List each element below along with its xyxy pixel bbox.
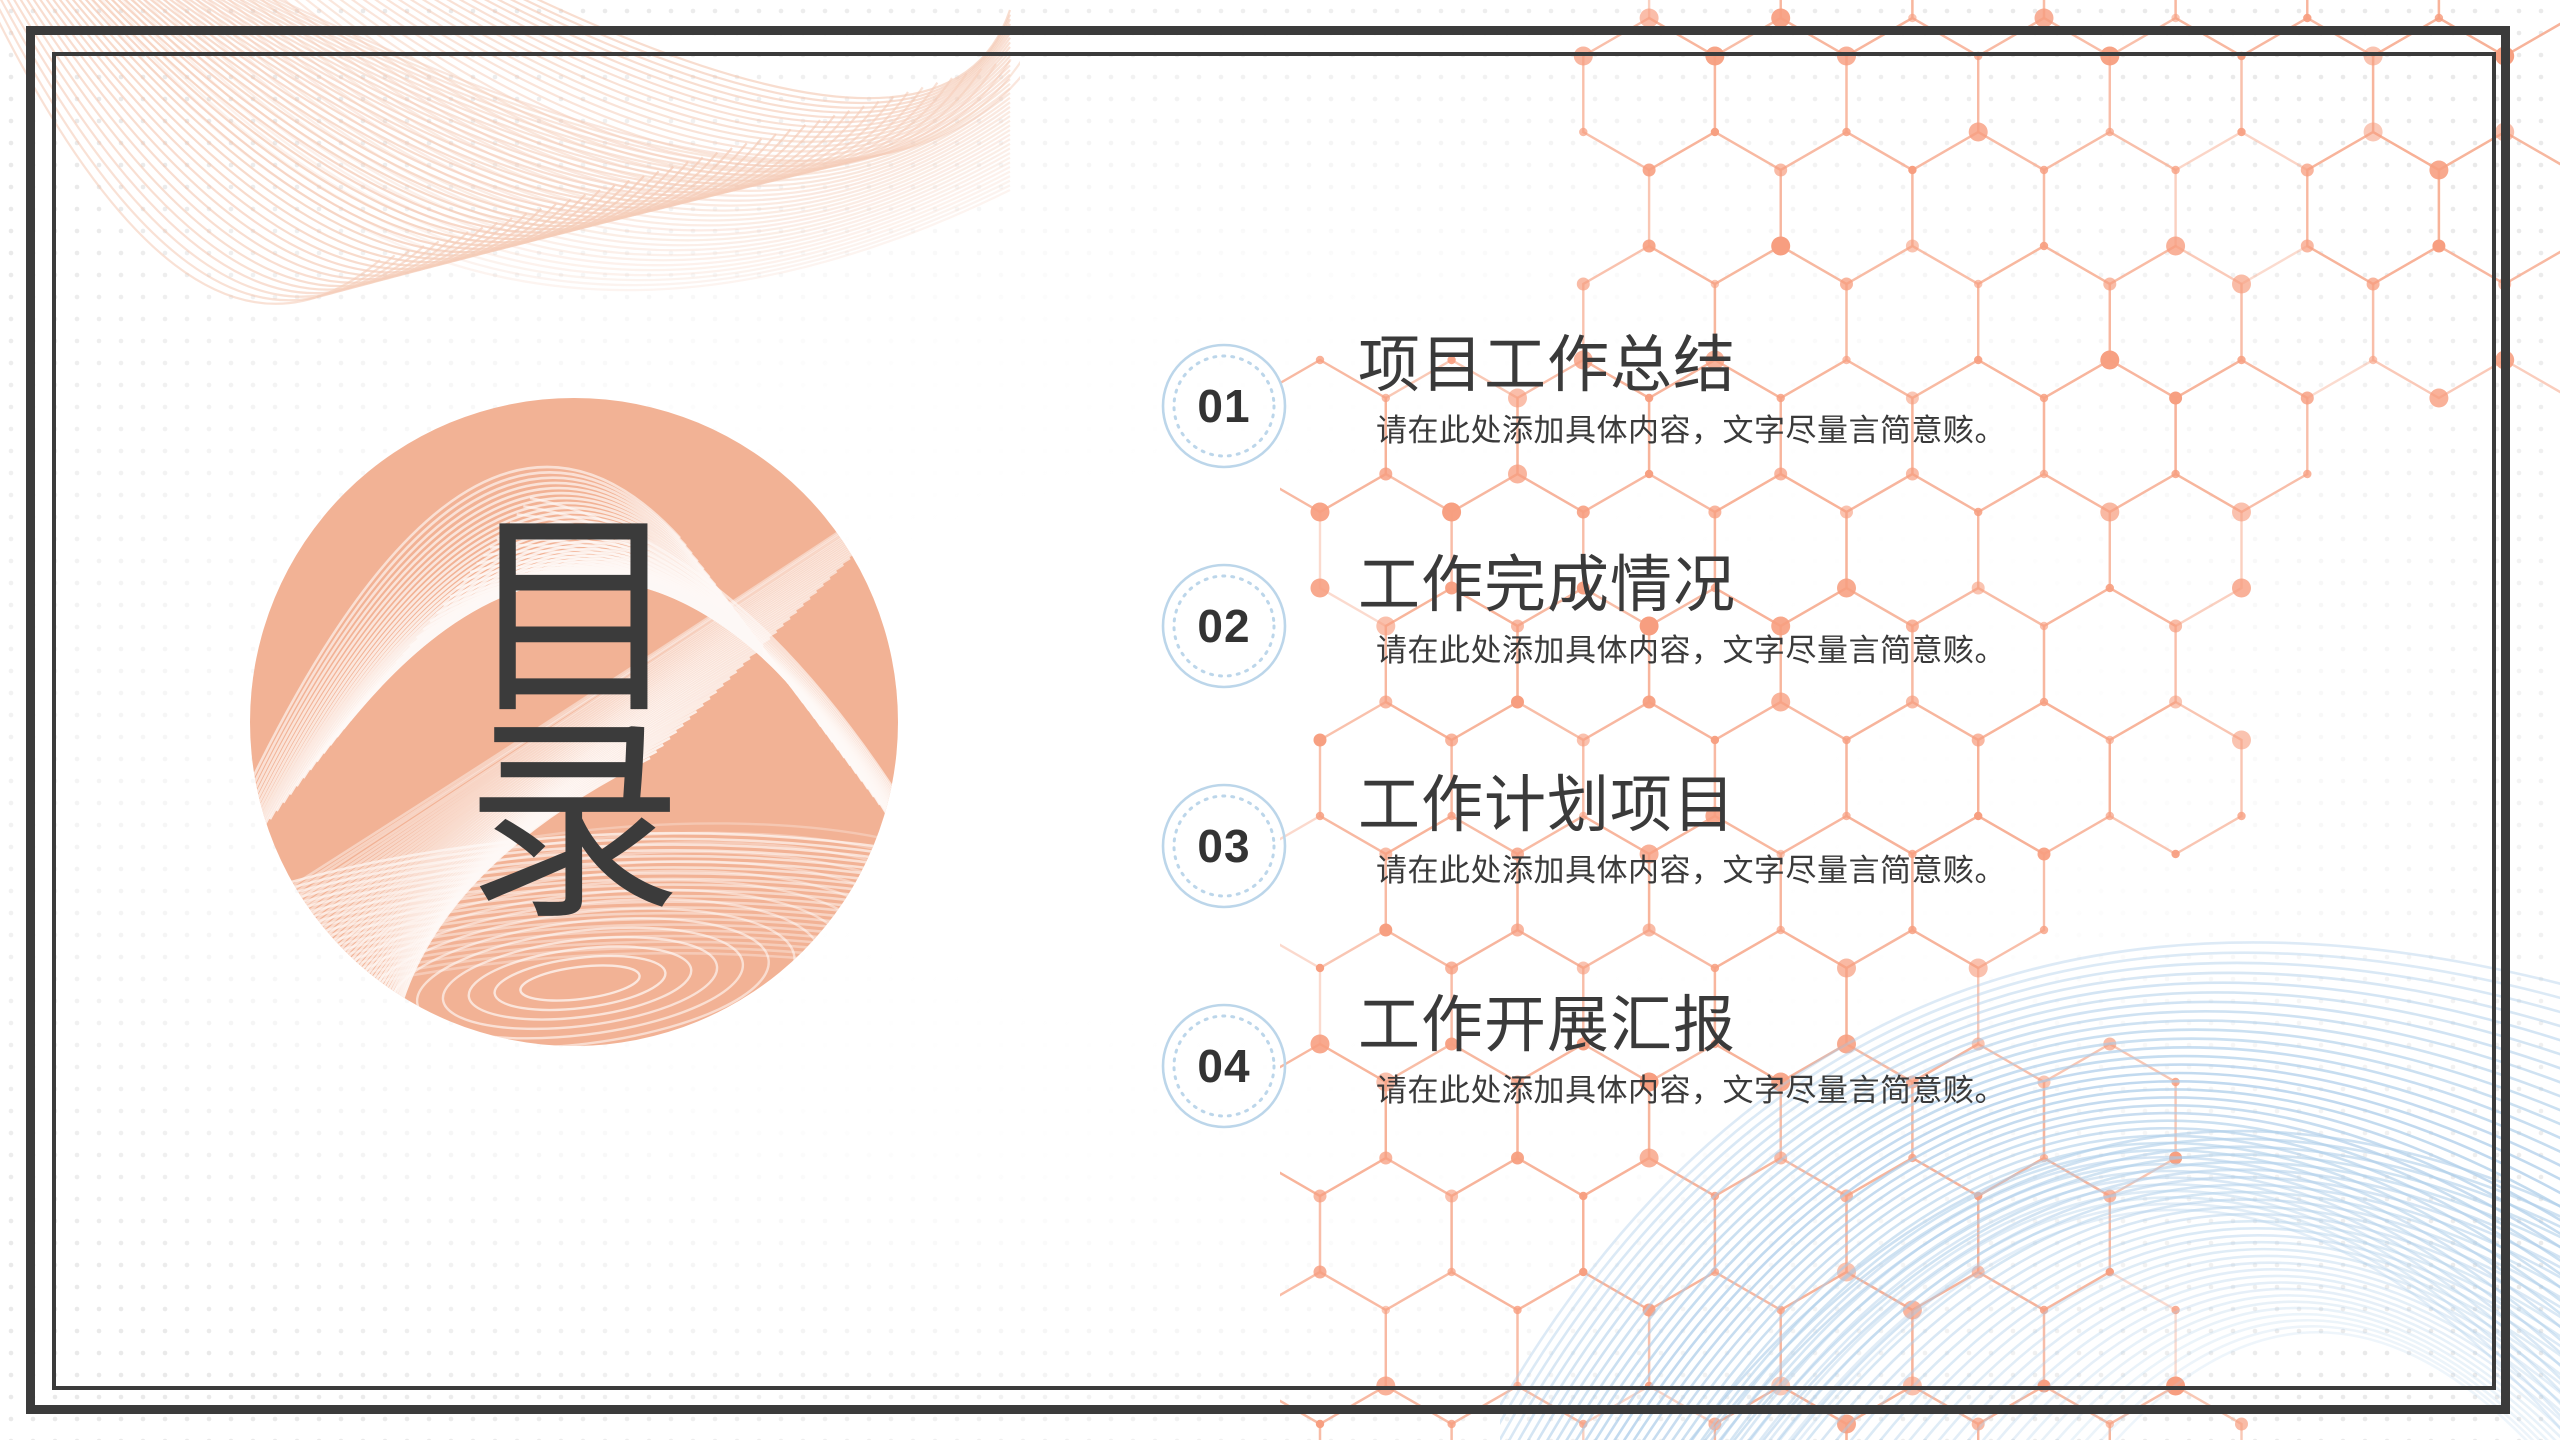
toc-badge-03: 03: [1160, 782, 1288, 910]
toc-subtitle-03: 请在此处添加具体内容，文字尽量言简意赅。: [1376, 845, 2006, 890]
toc-subtitle-02: 请在此处添加具体内容，文字尽量言简意赅。: [1376, 625, 2006, 670]
toc-heading-char-1: 目: [465, 517, 683, 722]
toc-subtitle-01: 请在此处添加具体内容，文字尽量言简意赅。: [1376, 405, 2006, 450]
toc-badge-04: 04: [1160, 1002, 1288, 1130]
toc-number-03: 03: [1160, 782, 1288, 910]
toc-item-02[interactable]: 02 工作完成情况 请在此处添加具体内容，文字尽量言简意赅。: [1160, 550, 2360, 770]
toc-title-04: 工作开展汇报: [1358, 990, 2006, 1059]
toc-title-03: 工作计划项目: [1358, 770, 2006, 839]
top-left-mesh-decoration: [0, 0, 1020, 390]
toc-title-01: 项目工作总结: [1358, 330, 2006, 399]
toc-item-01[interactable]: 01 项目工作总结 请在此处添加具体内容，文字尽量言简意赅。: [1160, 330, 2360, 550]
toc-number-01: 01: [1160, 342, 1288, 470]
slide-canvas: 目 录 01 项目工作总结 请在此处添加具体内容，文字尽量言简意赅。: [0, 0, 2560, 1440]
toc-item-03[interactable]: 03 工作计划项目 请在此处添加具体内容，文字尽量言简意赅。: [1160, 770, 2360, 990]
toc-heading-text: 目 录: [250, 398, 898, 1046]
toc-item-04[interactable]: 04 工作开展汇报 请在此处添加具体内容，文字尽量言简意赅。: [1160, 990, 2360, 1210]
toc-badge-01: 01: [1160, 342, 1288, 470]
toc-text-03: 工作计划项目 请在此处添加具体内容，文字尽量言简意赅。: [1358, 770, 2006, 890]
toc-number-04: 04: [1160, 1002, 1288, 1130]
toc-title-02: 工作完成情况: [1358, 550, 2006, 619]
toc-number-02: 02: [1160, 562, 1288, 690]
toc-heading-char-2: 录: [465, 722, 683, 927]
toc-list: 01 项目工作总结 请在此处添加具体内容，文字尽量言简意赅。 02 工作完成情况…: [1160, 330, 2360, 1210]
toc-text-02: 工作完成情况 请在此处添加具体内容，文字尽量言简意赅。: [1358, 550, 2006, 670]
toc-text-04: 工作开展汇报 请在此处添加具体内容，文字尽量言简意赅。: [1358, 990, 2006, 1110]
toc-text-01: 项目工作总结 请在此处添加具体内容，文字尽量言简意赅。: [1358, 330, 2006, 450]
toc-badge-02: 02: [1160, 562, 1288, 690]
toc-heading-circle: 目 录: [250, 398, 898, 1046]
toc-subtitle-04: 请在此处添加具体内容，文字尽量言简意赅。: [1376, 1065, 2006, 1110]
